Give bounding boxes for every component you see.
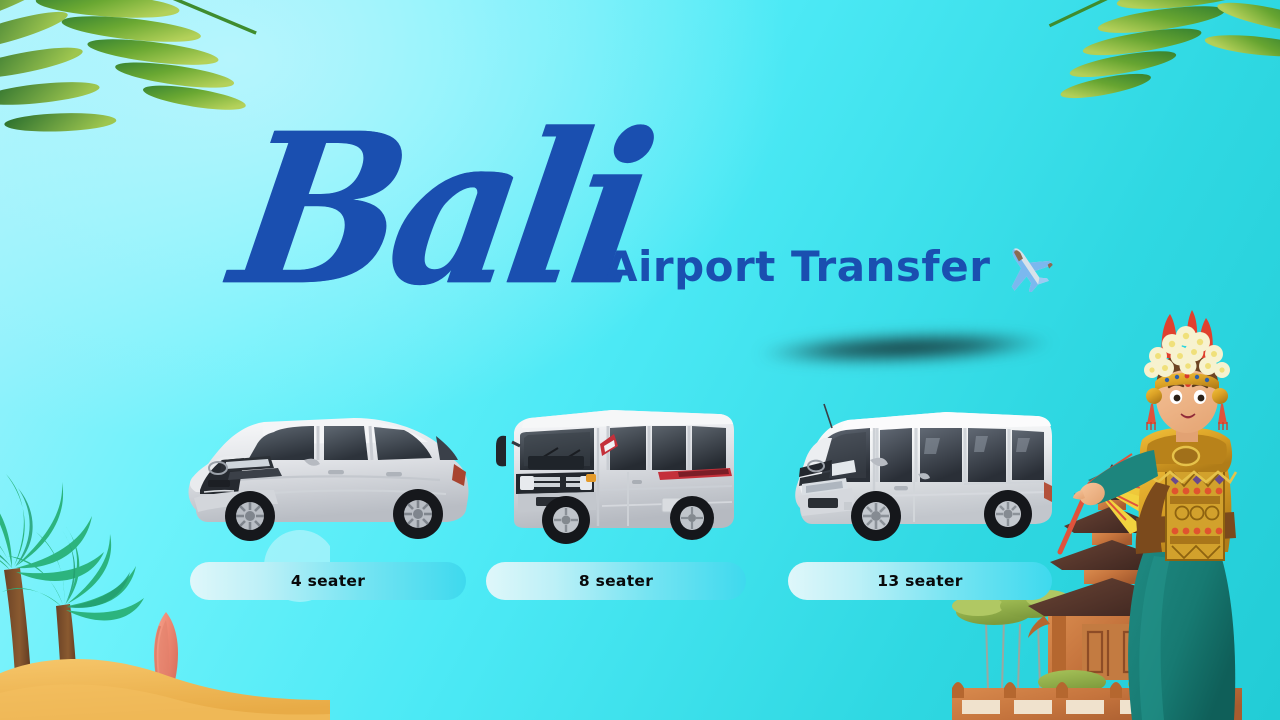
mpv-car-image [178,398,478,558]
vehicle-label: 13 seater [877,572,962,590]
vehicle-card-list: 4 seater [0,0,1280,720]
vehicle-card-13-seater[interactable]: 13 seater [786,398,1056,604]
minibus-image [482,398,750,558]
vehicle-label-pill[interactable]: 13 seater [788,562,1052,600]
vehicle-label: 8 seater [579,572,653,590]
van-image [786,398,1056,558]
vehicle-label: 4 seater [291,572,365,590]
vehicle-label-pill[interactable]: 8 seater [486,562,746,600]
promo-banner: Bali Airport Transfer [0,0,1280,720]
vehicle-card-8-seater[interactable]: 8 seater [482,398,750,604]
vehicle-label-pill[interactable]: 4 seater [190,562,466,600]
vehicle-card-4-seater[interactable]: 4 seater [178,398,478,604]
